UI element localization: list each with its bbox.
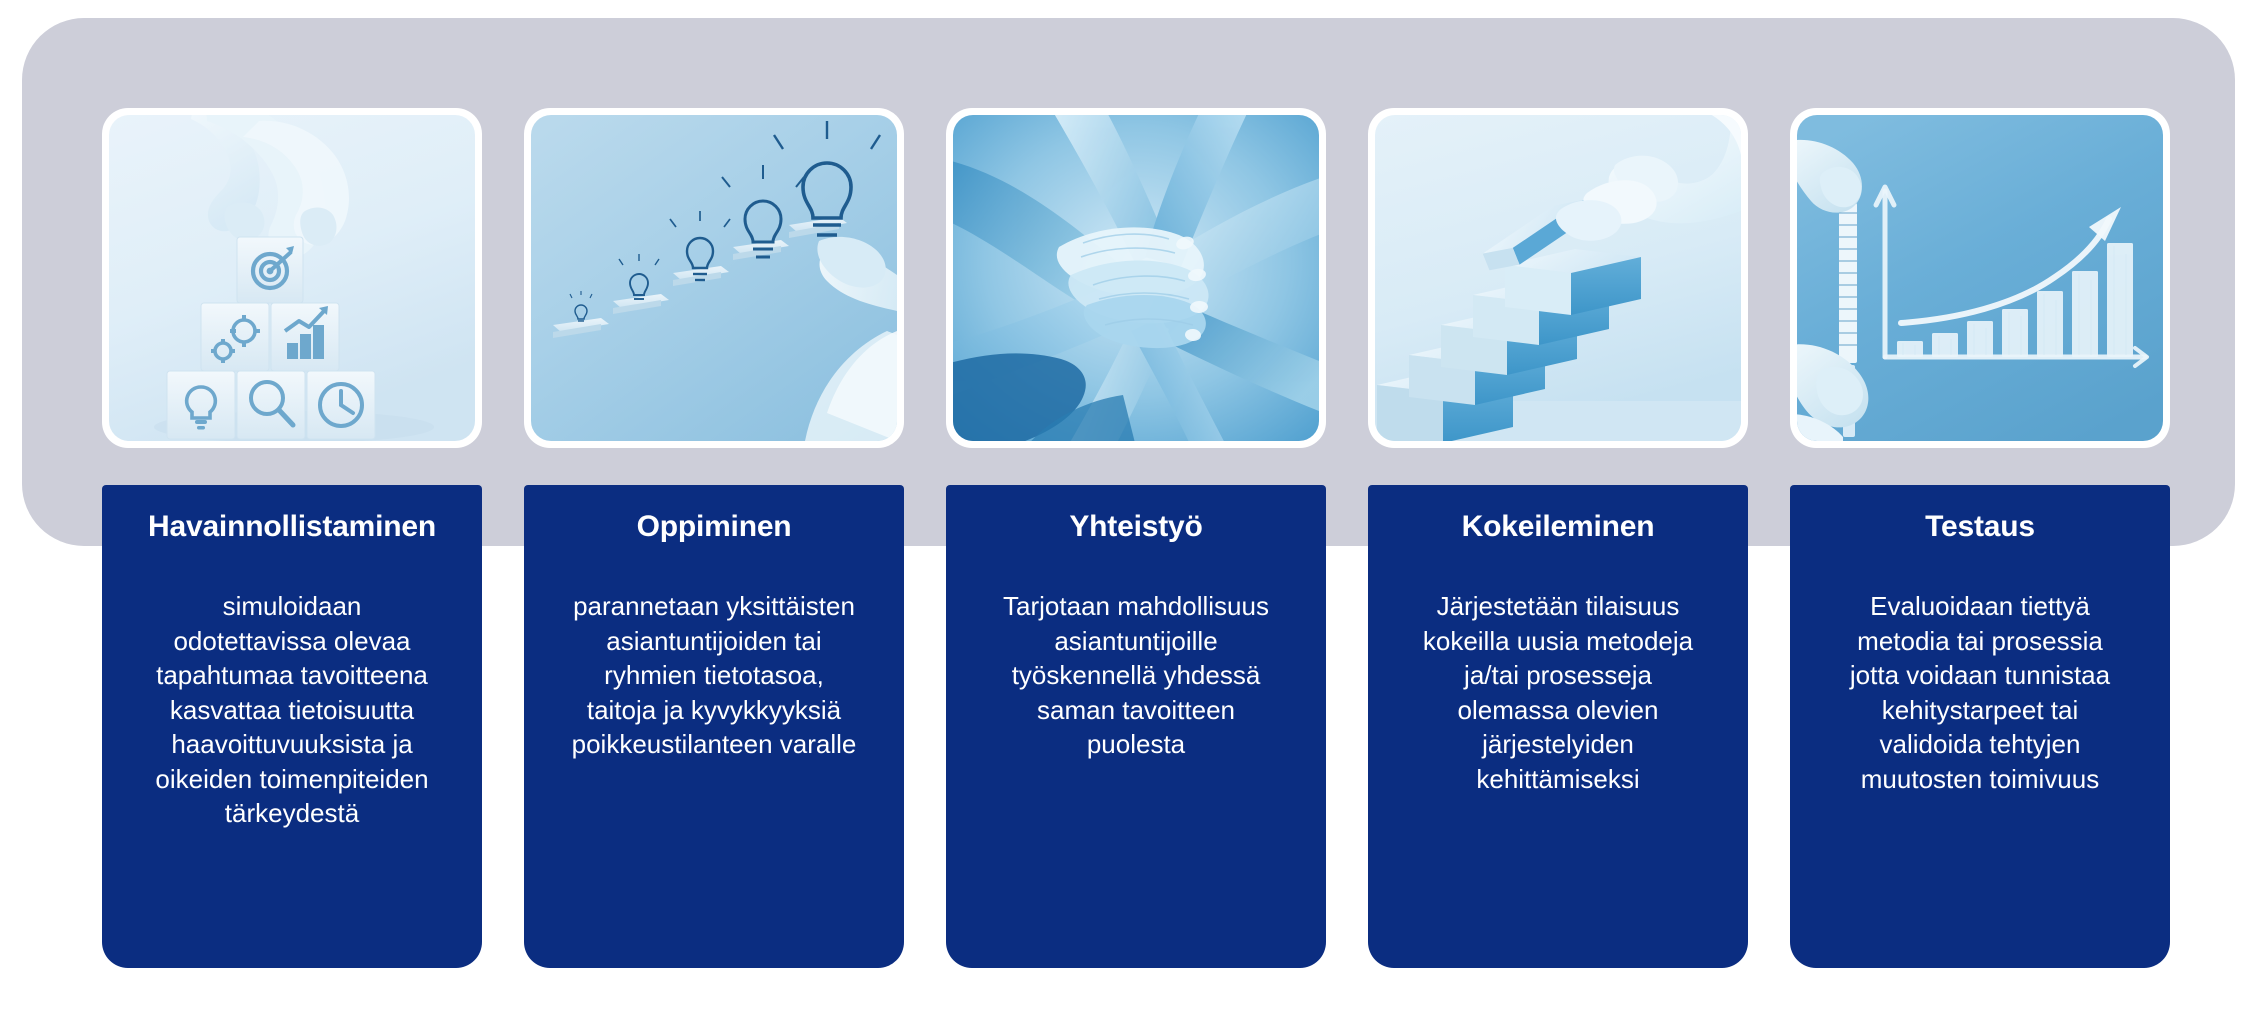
photo-frame: [946, 108, 1326, 448]
photo-frame: [1368, 108, 1748, 448]
info-card[interactable]: Testaus Evaluoidaan tiettyä metodia tai …: [1790, 485, 2170, 968]
process-step-column: Oppiminen parannetaan yksittäisten asian…: [524, 0, 904, 1019]
card-title: Yhteistyö: [960, 503, 1312, 545]
card-body: Evaluoidaan tiettyä metodia tai prosessi…: [1804, 545, 2156, 796]
process-step-column: Testaus Evaluoidaan tiettyä metodia tai …: [1790, 0, 2170, 1019]
process-steps-stage: Havainnollistaminen simuloidaan odotetta…: [0, 0, 2265, 1019]
card-title: Testaus: [1804, 503, 2156, 545]
process-step-column: Kokeileminen Järjestetään tilaisuus koke…: [1368, 0, 1748, 1019]
process-step-column: Yhteistyö Tarjotaan mahdollisuus asiantu…: [946, 0, 1326, 1019]
info-card[interactable]: Yhteistyö Tarjotaan mahdollisuus asiantu…: [946, 485, 1326, 968]
card-body: parannetaan yksittäisten asiantuntijoide…: [538, 545, 890, 762]
info-card[interactable]: Oppiminen parannetaan yksittäisten asian…: [524, 485, 904, 968]
photo-frame: [524, 108, 904, 448]
photo-frame: [1790, 108, 2170, 448]
card-title: Kokeileminen: [1382, 503, 1734, 545]
ascending-lightbulbs-on-steps-image: [531, 115, 897, 441]
card-body: Tarjotaan mahdollisuus asiantuntijoille …: [960, 545, 1312, 762]
card-body: simuloidaan odotettavissa olevaa tapahtu…: [116, 545, 468, 831]
hand-building-block-staircase-image: [1375, 115, 1741, 441]
team-hands-stacked-together-image: [953, 115, 1319, 441]
hand-stacking-wooden-blocks-with-icons-image: [109, 115, 475, 441]
card-title: Oppiminen: [538, 503, 890, 545]
card-title: Havainnollistaminen: [116, 503, 468, 545]
photo-frame: [102, 108, 482, 448]
info-card[interactable]: Kokeileminen Järjestetään tilaisuus koke…: [1368, 485, 1748, 968]
hands-measuring-growth-chart-image: [1797, 115, 2163, 441]
info-card[interactable]: Havainnollistaminen simuloidaan odotetta…: [102, 485, 482, 968]
card-body: Järjestetään tilaisuus kokeilla uusia me…: [1382, 545, 1734, 796]
process-step-column: Havainnollistaminen simuloidaan odotetta…: [102, 0, 482, 1019]
